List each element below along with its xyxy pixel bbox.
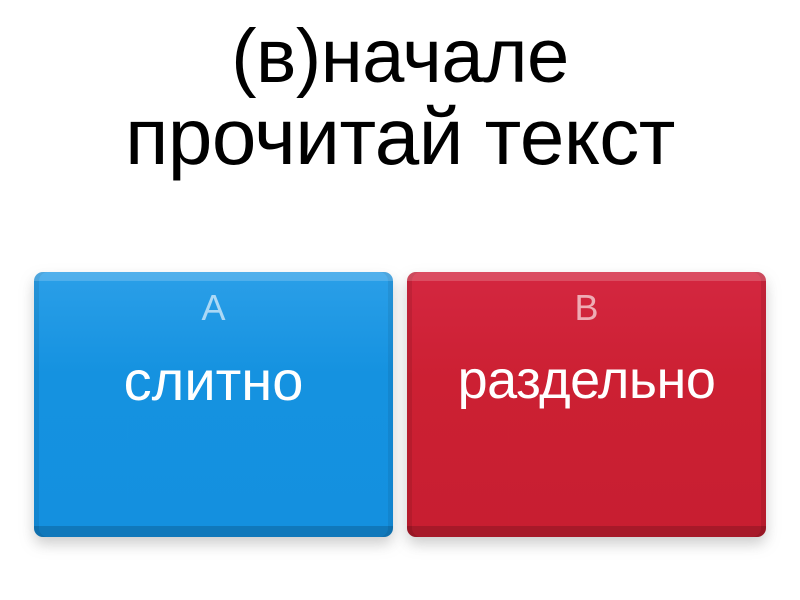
- answer-option-b[interactable]: B раздельно: [407, 272, 766, 537]
- answer-letter-b: B: [574, 290, 598, 326]
- answer-option-a[interactable]: A слитно: [34, 272, 393, 537]
- answer-label-a: слитно: [118, 352, 310, 411]
- question-line-2: прочитай текст: [125, 96, 675, 178]
- question-line-1: (в)начале: [231, 18, 569, 96]
- quiz-screen: (в)начале прочитай текст A слитно B разд…: [0, 0, 800, 600]
- answer-options: A слитно B раздельно: [0, 272, 800, 537]
- answer-letter-a: A: [201, 290, 225, 326]
- question-area: (в)начале прочитай текст: [0, 0, 800, 272]
- answer-label-b: раздельно: [452, 352, 722, 409]
